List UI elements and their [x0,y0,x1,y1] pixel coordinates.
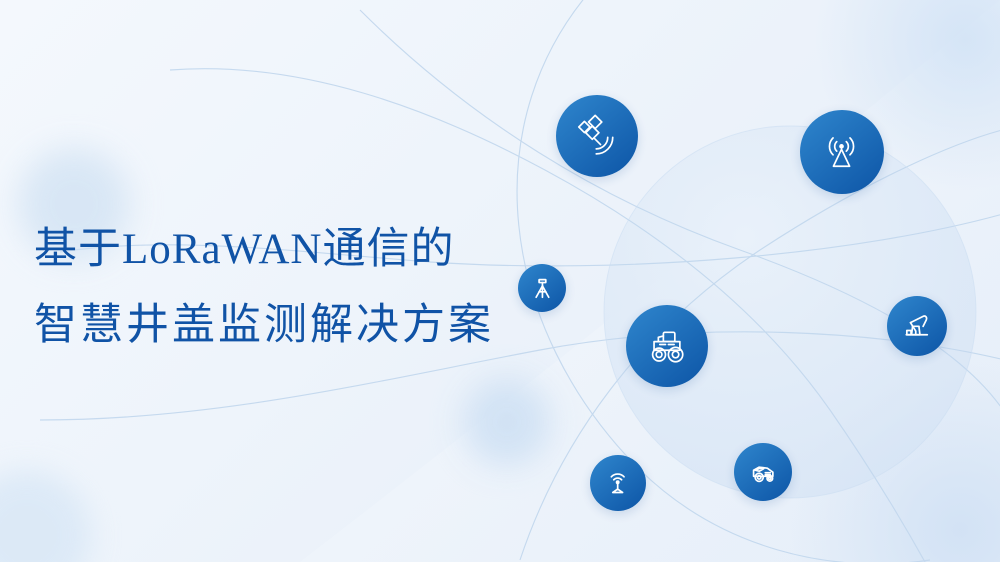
node-field-vehicle [734,443,792,501]
ambient-dot-mid-low-soft [463,378,551,466]
node-satellite [556,95,638,177]
tractor-icon [644,323,690,369]
node-radio-tower [800,110,884,194]
node-oil-pumpjack [887,296,947,356]
node-tractor [626,305,708,387]
title-line-1: 基于LoRaWAN通信的 [34,228,594,271]
node-wireless-sensor [590,455,646,511]
radio-tower-icon [818,128,865,175]
title-line-2: 智慧井盖监测解决方案 [34,304,594,347]
satellite-icon [574,113,620,159]
wireless-sensor-icon [602,467,633,498]
corner-glow-bottom-right [790,360,1000,562]
presentation-slide: 基于LoRaWAN通信的 智慧井盖监测解决方案 [0,0,1000,562]
field-vehicle-icon [747,456,779,488]
slide-title-block: 基于LoRaWAN通信的 智慧井盖监测解决方案 [34,228,594,347]
ambient-dot-left-lower-soft [0,470,92,562]
oil-pumpjack-icon [900,309,934,343]
